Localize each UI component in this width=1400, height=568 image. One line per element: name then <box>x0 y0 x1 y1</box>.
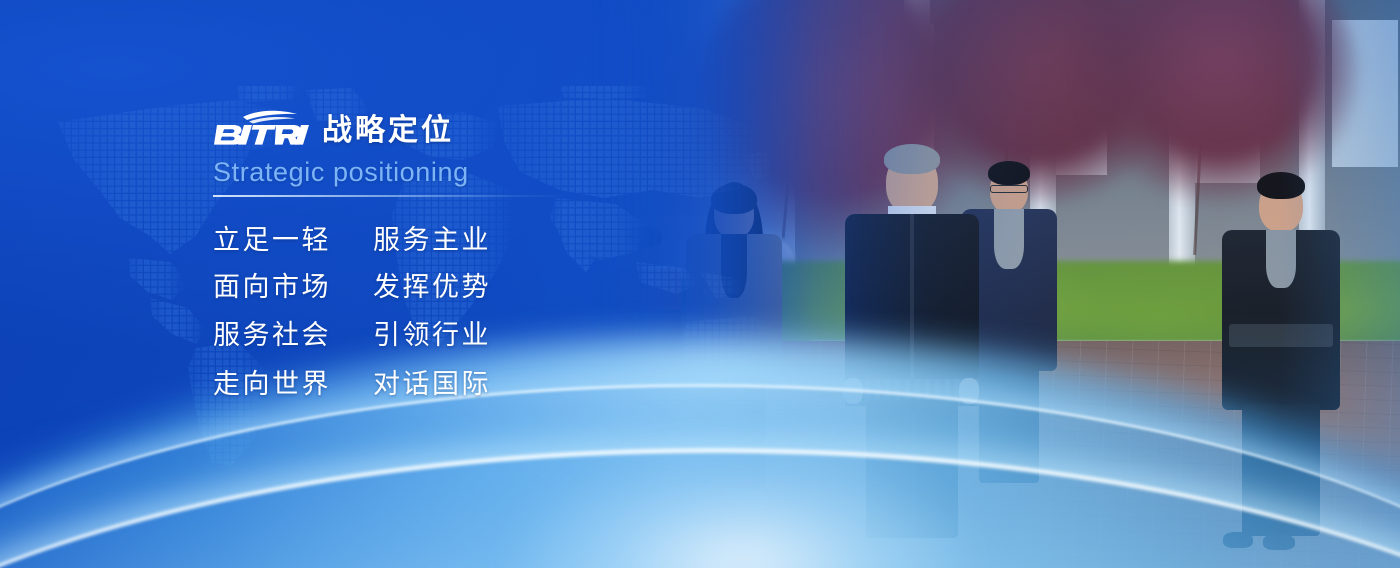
slogan-right: 服务主业 <box>373 217 491 264</box>
slogan-right: 发挥优势 <box>373 264 491 311</box>
person-legs <box>979 365 1039 483</box>
brand-row: 战略定位 <box>213 104 773 150</box>
slogan-row: 立足一轻 服务主业 <box>213 217 773 264</box>
brand-title-cn: 战略定位 <box>322 114 454 150</box>
person-torso <box>845 214 979 406</box>
person-hair <box>1257 172 1305 199</box>
person-hand <box>959 378 979 404</box>
slogan-row: 面向市场 发挥优势 <box>213 264 773 311</box>
banner-content: 战略定位 Strategic positioning 立足一轻 服务主业 面向市… <box>213 104 773 409</box>
person-shoe <box>730 490 768 510</box>
slogan-row: 走向世界 对话国际 <box>213 360 773 409</box>
slogan-list: 立足一轻 服务主业 面向市场 发挥优势 服务社会 引领行业 走向世界 对话国际 <box>213 217 773 409</box>
person-shoe <box>636 482 666 497</box>
slogan-right: 对话国际 <box>373 360 491 409</box>
person-shoe <box>684 486 720 506</box>
photo-person-right <box>1215 170 1347 550</box>
person-torso <box>1222 230 1340 410</box>
slogan-left: 服务社会 <box>213 311 373 360</box>
slogan-left: 立足一轻 <box>213 217 373 264</box>
person-hand <box>843 378 863 404</box>
person-hair <box>988 161 1030 185</box>
slogan-row: 服务社会 引领行业 <box>213 311 773 360</box>
person-legs <box>866 400 958 538</box>
title-divider <box>213 195 565 197</box>
eyeglasses-icon <box>990 185 1028 193</box>
slogan-right: 引领行业 <box>373 311 491 360</box>
brand-title-en: Strategic positioning <box>213 156 773 188</box>
slogan-left: 面向市场 <box>213 264 373 311</box>
photo-person-leader <box>837 142 987 542</box>
person-legs <box>1242 404 1320 536</box>
slogan-left: 走向世界 <box>213 360 373 409</box>
person-shoe <box>1223 532 1253 548</box>
person-hair <box>884 144 940 174</box>
person-shoe <box>604 480 632 495</box>
bitri-swoosh-logo-icon <box>213 108 309 150</box>
strategic-positioning-banner: 战略定位 Strategic positioning 立足一轻 服务主业 面向市… <box>0 0 1400 568</box>
person-shoe <box>1263 534 1295 550</box>
